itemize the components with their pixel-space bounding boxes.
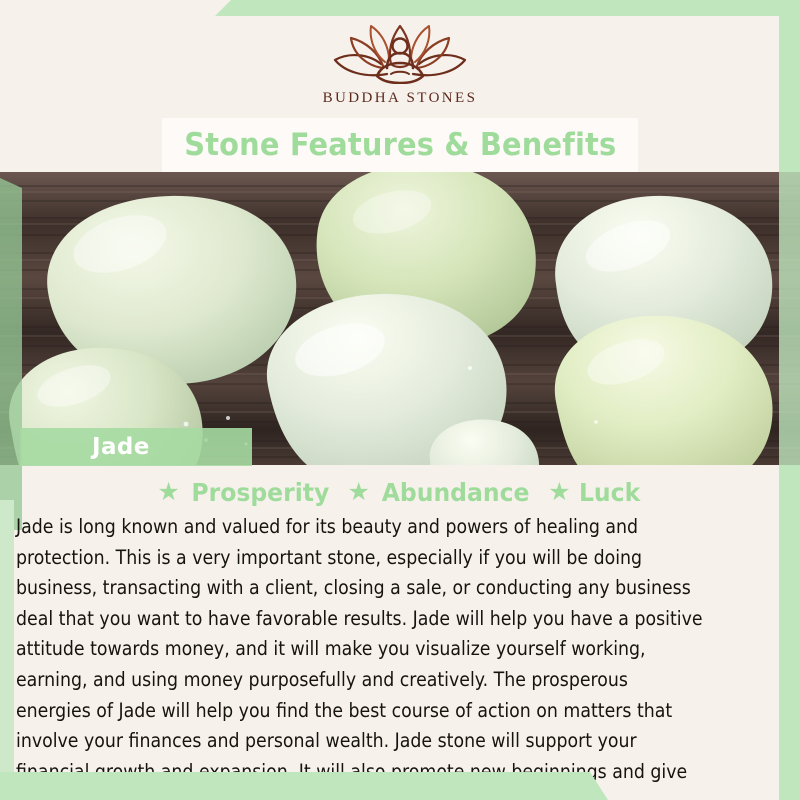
stone-name-band: Jade	[20, 428, 252, 466]
decor-right-green-overlay	[779, 172, 800, 465]
stone-name: Jade	[92, 434, 150, 460]
benefit-label: Prosperity	[191, 478, 329, 507]
benefit-item: ★ Luck	[548, 478, 643, 507]
benefits-row: ★ Prosperity ★ Abundance ★ Luck	[0, 478, 800, 507]
benefit-item: ★ Abundance	[347, 478, 534, 507]
star-icon: ★	[157, 480, 179, 505]
page-title: Stone Features & Benefits	[184, 127, 616, 163]
brand-name: BUDDHA STONES	[323, 90, 478, 107]
star-icon: ★	[548, 480, 570, 505]
star-icon: ★	[347, 480, 369, 505]
stone-description: Jade is long known and valued for its be…	[16, 512, 705, 800]
benefit-item: ★ Prosperity	[157, 478, 333, 507]
benefit-label: Luck	[579, 478, 640, 507]
title-banner: Stone Features & Benefits	[162, 118, 638, 172]
decor-bottom-green-band	[0, 772, 608, 800]
lotus-meditation-icon	[325, 22, 475, 84]
poster-root: BUDDHA STONES Stone Features & Benefits	[0, 0, 800, 800]
benefit-label: Abundance	[382, 478, 530, 507]
brand-header: BUDDHA STONES	[0, 0, 800, 120]
decor-left-lower-strip	[0, 500, 14, 800]
stone-photo	[0, 172, 800, 465]
